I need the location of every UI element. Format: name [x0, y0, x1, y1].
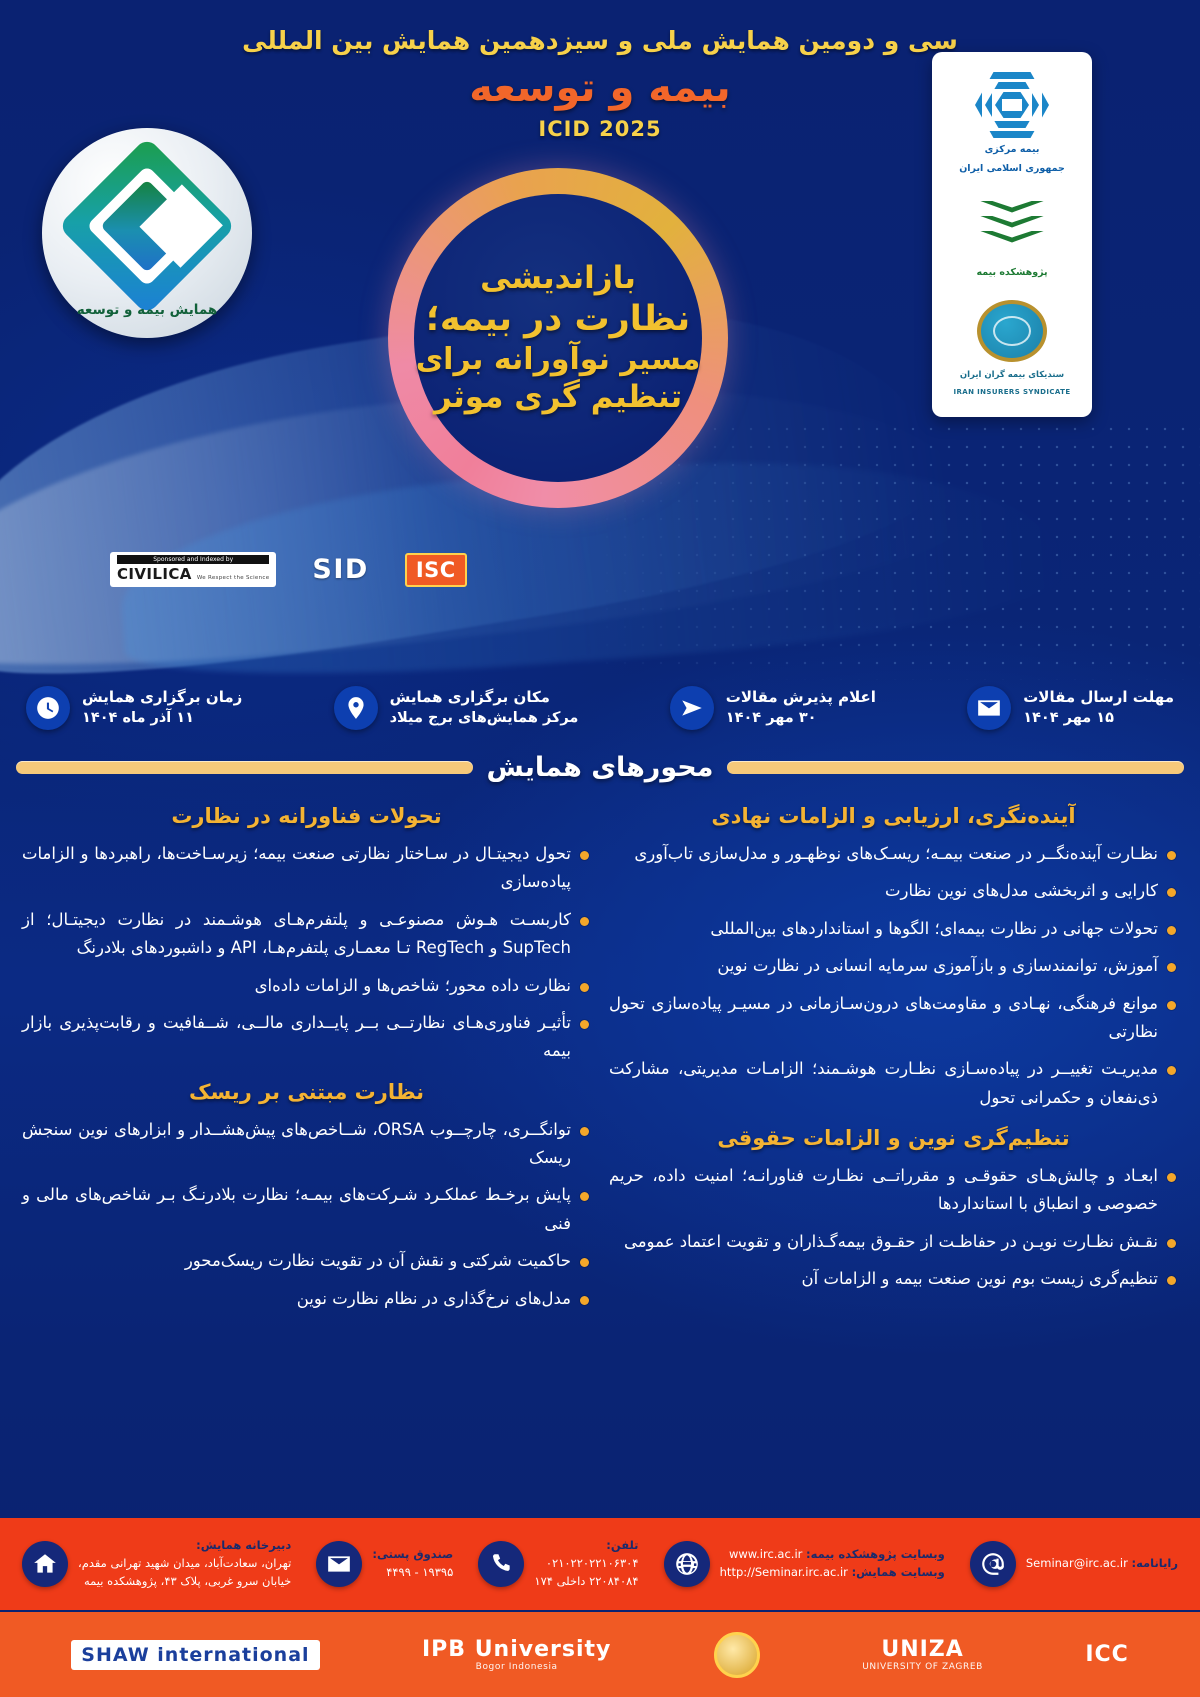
title-bar-left — [727, 761, 1184, 774]
envelope-icon — [967, 686, 1011, 730]
contact-website-seminar-label: وبسایت همایش: — [852, 1565, 945, 1579]
partner-uniza: UNIZA UNIVERSITY OF ZAGREB — [862, 1637, 983, 1672]
insurance-research-center-chevron-icon — [975, 195, 1049, 261]
topic-list-regulation-legal: ابعـاد و چالش‌هـای حقوقـی و مقرراتــی نظ… — [609, 1162, 1178, 1294]
sponsor-irc-line1: پژوهشکده بیمه — [976, 266, 1047, 280]
list-item: تحولات جهانی در نظارت بیمه‌ای؛ الگوها و … — [609, 915, 1178, 943]
contact-websites[interactable]: وبسایت پژوهشکده بیمه: www.irc.ac.ir وبسا… — [664, 1541, 945, 1587]
contact-website-irc-value[interactable]: www.irc.ac.ir — [729, 1546, 802, 1564]
phone-icon — [478, 1541, 524, 1587]
info-item-venue: مکان برگزاری همایش مرکز همایش‌های برج می… — [334, 686, 579, 730]
partner-icc: ICC — [1085, 1642, 1128, 1667]
slogan-line-1: بازاندیشی — [480, 261, 636, 296]
topic-list-risk-based-supervision: توانگــری، چارچــوب ORSA، شــاخص‌های پیش… — [22, 1116, 591, 1313]
civilica-badge-top: Sponsored and Indexed by — [117, 555, 269, 564]
category-heading-regulation-legal: تنظیم‌گری نوین و الزامات حقوقی — [609, 1126, 1178, 1150]
list-item: کارایی و اثربخشی مدل‌های نوین نظارت — [609, 877, 1178, 905]
contact-phone-label: تلفن: — [606, 1538, 638, 1552]
list-item: مدیریـت تغییــر در پیاده‌سـازی نظـارت هو… — [609, 1055, 1178, 1112]
conference-logo: همایش بیمه و توسعه — [42, 128, 252, 338]
contact-secretariat-label: دبیرخانه همایش: — [196, 1538, 291, 1552]
list-item: حاکمیت شرکتی و نقش آن در تقویت نظارت ریس… — [22, 1247, 591, 1275]
partner-ipb-name: IPB University — [422, 1637, 611, 1662]
sponsor-central-insurance: بیمه مرکزی جمهوری اسلامی ایران — [940, 64, 1084, 187]
topics-section-title: محورهای همایش — [487, 752, 714, 783]
info-title-date: زمان برگزاری همایش — [82, 687, 242, 709]
contact-postbox-value: ۱۹۳۹۵ - ۴۴۹۹ — [372, 1564, 453, 1582]
slogan-text: بازاندیشی نظارت در بیمه؛ مسیر نوآورانه ب… — [388, 168, 728, 508]
contact-email-value[interactable]: Seminar@irc.ac.ir — [1026, 1555, 1128, 1573]
sponsor-logo-panel: بیمه مرکزی جمهوری اسلامی ایران پژوهشکده … — [932, 52, 1092, 417]
info-title-venue: مکان برگزاری همایش — [390, 687, 579, 709]
slogan-ring: بازاندیشی نظارت در بیمه؛ مسیر نوآورانه ب… — [388, 168, 728, 508]
partner-uniza-name: UNIZA — [881, 1637, 963, 1662]
partner-uniza-sub: UNIVERSITY OF ZAGREB — [862, 1662, 983, 1672]
info-value-venue: مرکز همایش‌های برج میلاد — [390, 708, 579, 729]
slogan-line-2: نظارت در بیمه؛ — [426, 300, 690, 339]
list-item: تنظیم‌گری زیست بوم نوین صنعت بیمه و الزا… — [609, 1265, 1178, 1293]
info-item-acceptance-announcement: اعلام پذیرش مقالات ۳۰ مهر ۱۴۰۴ — [670, 686, 876, 730]
topic-list-foresight: نظـارت آینده‌نگــر در صنعت بیمـه؛ ریسـک‌… — [609, 840, 1178, 1112]
sponsor-syndicate-line2: IRAN INSURERS SYNDICATE — [953, 387, 1070, 398]
contact-website-irc-label: وبسایت پژوهشکده بیمه: — [806, 1547, 945, 1561]
globe-icon — [664, 1541, 710, 1587]
at-sign-icon — [970, 1541, 1016, 1587]
category-heading-foresight: آینده‌نگری، ارزیابی و الزامات نهادی — [609, 804, 1178, 828]
contact-postbox-label: صندوق پستی: — [372, 1547, 453, 1561]
contact-phone-line2[interactable]: ۲۲۰۸۴۰۸۴ داخلی ۱۷۴ — [534, 1573, 638, 1591]
sponsor-central-insurance-line2: جمهوری اسلامی ایران — [959, 162, 1065, 176]
sid-badge: SID — [312, 554, 368, 585]
list-item: ابعـاد و چالش‌هـای حقوقـی و مقرراتــی نظ… — [609, 1162, 1178, 1219]
list-item: موانع فرهنگی، نهـادی و مقاومت‌های درون‌س… — [609, 990, 1178, 1047]
iran-insurers-syndicate-globe-icon — [975, 298, 1049, 364]
list-item: آموزش، توانمندسازی و بازآموزی سرمایه انس… — [609, 952, 1178, 980]
slogan-line-4: تنظیم گری موثر — [434, 380, 682, 415]
sponsor-syndicate-line1: سندیکای بیمه گران ایران — [960, 369, 1064, 382]
gold-seal-icon — [714, 1632, 760, 1678]
list-item: کاربسـت هـوش مصنوعـی و پلتفرم‌هـای هوشـم… — [22, 906, 591, 963]
civilica-badge-name: CIVILICA — [117, 565, 192, 583]
list-item: نقـش نظـارت نویـن در حفاظـت از حقـوق بیم… — [609, 1228, 1178, 1256]
conference-logo-caption: همایش بیمه و توسعه — [42, 302, 252, 318]
list-item: تحول دیجیتـال در سـاختار نظارتی صنعت بیم… — [22, 840, 591, 897]
info-value-submission-deadline: ۱۵ مهر ۱۴۰۴ — [1023, 708, 1174, 729]
location-pin-icon — [334, 686, 378, 730]
topics-column-left: آینده‌نگری، ارزیابی و الزامات نهادی نظـا… — [609, 790, 1178, 1303]
list-item: تأثیـر فناوری‌هـای نظارتــی بــر پایــدا… — [22, 1009, 591, 1066]
topics-columns: آینده‌نگری، ارزیابی و الزامات نهادی نظـا… — [0, 790, 1200, 1322]
contact-postbox: صندوق پستی: ۱۹۳۹۵ - ۴۴۹۹ — [316, 1541, 453, 1587]
send-paper-plane-icon — [670, 686, 714, 730]
diamond-chevron-logo-icon — [84, 163, 210, 289]
topics-section-title-bar: محورهای همایش — [0, 752, 1200, 783]
contact-email-label: رایانامه: — [1131, 1556, 1178, 1570]
isc-badge: ISC — [405, 553, 467, 587]
partner-seal — [714, 1632, 760, 1678]
slogan-line-3: مسیر نوآورانه برای — [416, 343, 701, 377]
contact-secretariat-line2: خیابان سرو غربی، پلاک ۴۳، پژوهشکده بیمه — [78, 1573, 291, 1591]
info-item-submission-deadline: مهلت ارسال مقالات ۱۵ مهر ۱۴۰۴ — [967, 686, 1174, 730]
contact-secretariat: دبیرخانه همایش: تهران، سعادت‌آباد، میدان… — [22, 1537, 291, 1590]
contact-secretariat-line1: تهران، سعادت‌آباد، میدان شهید تهرانی مقد… — [78, 1555, 291, 1573]
list-item: نظارت داده محور؛ شاخص‌ها و الزامات داده‌… — [22, 972, 591, 1000]
clock-icon — [26, 686, 70, 730]
partner-shaw-international: SHAW international — [71, 1640, 319, 1670]
category-heading-tech-transformation: تحولات فناورانه در نظارت — [22, 804, 591, 828]
contact-email[interactable]: رایانامه: Seminar@irc.ac.ir — [970, 1541, 1178, 1587]
info-value-date: ۱۱ آذر ماه ۱۴۰۴ — [82, 708, 242, 729]
indexing-badges: ISC SID Sponsored and Indexed by CIVILIC… — [110, 552, 467, 587]
partner-icc-name: ICC — [1085, 1642, 1128, 1667]
partner-ipb-university: IPB University Bogor Indonesia — [422, 1637, 611, 1672]
partner-logo-strip: ICC UNIZA UNIVERSITY OF ZAGREB IPB Unive… — [0, 1612, 1200, 1697]
home-icon — [22, 1541, 68, 1587]
category-heading-risk-based-supervision: نظارت مبتنی بر ریسک — [22, 1080, 591, 1104]
contact-website-seminar-value[interactable]: http://Seminar.irc.ac.ir — [720, 1564, 848, 1582]
contact-footer: رایانامه: Seminar@irc.ac.ir وبسایت پژوهش… — [0, 1518, 1200, 1610]
list-item: نظـارت آینده‌نگــر در صنعت بیمـه؛ ریسـک‌… — [609, 840, 1178, 868]
sponsor-central-insurance-line1: بیمه مرکزی — [985, 143, 1040, 157]
civilica-badge: Sponsored and Indexed by CIVILICA We Res… — [110, 552, 276, 587]
event-info-strip: مهلت ارسال مقالات ۱۵ مهر ۱۴۰۴ اعلام پذیر… — [0, 672, 1200, 744]
list-item: مدل‌های نرخ‌گذاری در نظام نظارت نوین — [22, 1285, 591, 1313]
header-line-national-international: سی و دومین همایش ملی و سیزدهمین همایش بی… — [0, 26, 1200, 55]
partner-shaw-name: SHAW international — [81, 1644, 309, 1666]
conference-poster: سی و دومین همایش ملی و سیزدهمین همایش بی… — [0, 0, 1200, 1697]
topic-list-tech-transformation: تحول دیجیتـال در سـاختار نظارتی صنعت بیم… — [22, 840, 591, 1066]
info-title-submission-deadline: مهلت ارسال مقالات — [1023, 687, 1174, 709]
sponsor-iran-insurers-syndicate: سندیکای بیمه گران ایران IRAN INSURERS SY… — [940, 290, 1084, 407]
central-insurance-hexagon-icon — [975, 72, 1049, 138]
list-item: توانگــری، چارچــوب ORSA، شــاخص‌های پیش… — [22, 1116, 591, 1173]
envelope-icon — [316, 1541, 362, 1587]
contact-phone[interactable]: تلفن: ۰۲۱۰۲۲۰۲۲۱۰۶۳۰۴ ۲۲۰۸۴۰۸۴ داخلی ۱۷۴ — [478, 1537, 638, 1590]
title-bar-right — [16, 761, 473, 774]
info-value-acceptance: ۳۰ مهر ۱۴۰۴ — [726, 708, 876, 729]
partner-ipb-sub: Bogor Indonesia — [476, 1662, 558, 1672]
civilica-badge-bottom: We Respect the Science — [197, 575, 270, 581]
topics-column-right: تحولات فناورانه در نظارت تحول دیجیتـال د… — [22, 790, 591, 1322]
sponsor-insurance-research-center: پژوهشکده بیمه — [940, 187, 1084, 290]
contact-phone-line1[interactable]: ۰۲۱۰۲۲۰۲۲۱۰۶۳۰۴ — [534, 1555, 638, 1573]
list-item: پایش برخـط عملکـرد شـرکت‌های بیمـه؛ نظار… — [22, 1181, 591, 1238]
info-item-date: زمان برگزاری همایش ۱۱ آذر ماه ۱۴۰۴ — [26, 686, 242, 730]
info-title-acceptance: اعلام پذیرش مقالات — [726, 687, 876, 709]
